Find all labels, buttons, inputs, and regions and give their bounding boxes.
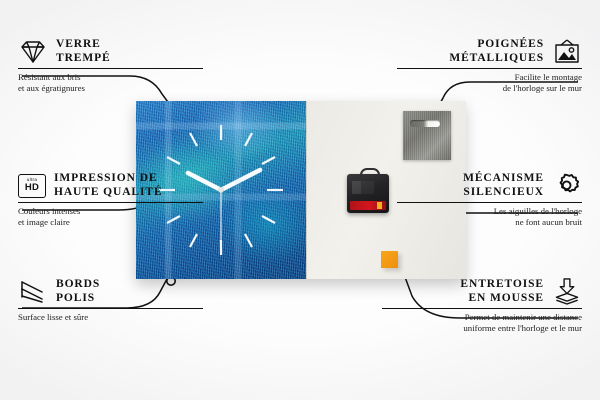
feature-rule	[18, 308, 203, 309]
feature-title-line1: POIGNÉES	[449, 38, 544, 52]
badge-hd-text: HD	[25, 183, 39, 193]
infographic-canvas: VERRE TREMPÉ Résistant aux bris et aux é…	[0, 0, 600, 400]
feature-entretoise-en-mousse: ENTRETOISE EN MOUSSE Permet de maintenir…	[382, 278, 582, 334]
hanging-frame-icon	[552, 39, 582, 65]
feature-desc-line1: Couleurs intenses	[18, 206, 203, 217]
feature-title-line2: TREMPÉ	[56, 52, 111, 66]
feature-rule	[382, 308, 582, 309]
feature-desc-line2: de l'horloge sur le mur	[397, 83, 582, 94]
mechanism-embossing	[352, 181, 374, 194]
feature-title-line1: MÉCANISME	[463, 172, 544, 186]
gear-icon	[552, 172, 582, 199]
bracket-slot	[410, 120, 440, 127]
feature-desc-line1: Résistant aux bris	[18, 72, 203, 83]
metal-hanging-bracket	[403, 111, 451, 160]
feature-impression-haute-qualite: ultra HD IMPRESSION DE HAUTE QUALITÉ Cou…	[18, 172, 203, 228]
feature-desc-line1: Surface lisse et sûre	[18, 312, 203, 323]
feature-rule	[18, 68, 203, 69]
feature-desc-line2: uniforme entre l'horloge et le mur	[382, 323, 582, 334]
feature-rule	[397, 202, 582, 203]
polished-edges-icon	[18, 279, 48, 305]
ultra-hd-badge-icon: ultra HD	[18, 174, 46, 198]
feature-title-line1: VERRE	[56, 38, 111, 52]
foam-spacer-icon	[552, 278, 582, 305]
feature-poignees-metalliques: POIGNÉES MÉTALLIQUES Facilite le montage…	[397, 38, 582, 94]
feature-title-line2: SILENCIEUX	[463, 186, 544, 200]
feature-bords-polis: BORDS POLIS Surface lisse et sûre	[18, 278, 203, 323]
feature-title-line2: HAUTE QUALITÉ	[54, 186, 163, 200]
foam-spacer	[381, 251, 398, 268]
feature-title-line2: POLIS	[56, 292, 100, 306]
feature-desc-line2: ne font aucun bruit	[397, 217, 582, 228]
feature-title-line2: MÉTALLIQUES	[449, 52, 544, 66]
feature-mecanisme-silencieux: MÉCANISME SILENCIEUX Les aiguilles de l'…	[397, 172, 582, 228]
feature-title-line1: BORDS	[56, 278, 100, 292]
feature-rule	[397, 68, 582, 69]
feature-title-line1: ENTRETOISE	[460, 278, 544, 292]
feature-desc-line2: et aux égratignures	[18, 83, 203, 94]
diamond-icon	[18, 39, 48, 65]
feature-desc-line1: Facilite le montage	[397, 72, 582, 83]
clock-mechanism	[347, 174, 389, 213]
feature-title-line1: IMPRESSION DE	[54, 172, 163, 186]
feature-desc-line2: et image claire	[18, 217, 203, 228]
mechanism-hanging-loop	[360, 168, 380, 178]
feature-desc-line1: Permet de maintenir une distance	[382, 312, 582, 323]
feature-rule	[18, 202, 203, 203]
feature-title-line2: EN MOUSSE	[460, 292, 544, 306]
battery-label	[350, 201, 386, 210]
feature-verre-trempe: VERRE TREMPÉ Résistant aux bris et aux é…	[18, 38, 203, 94]
feature-desc-line1: Les aiguilles de l'horloge	[397, 206, 582, 217]
